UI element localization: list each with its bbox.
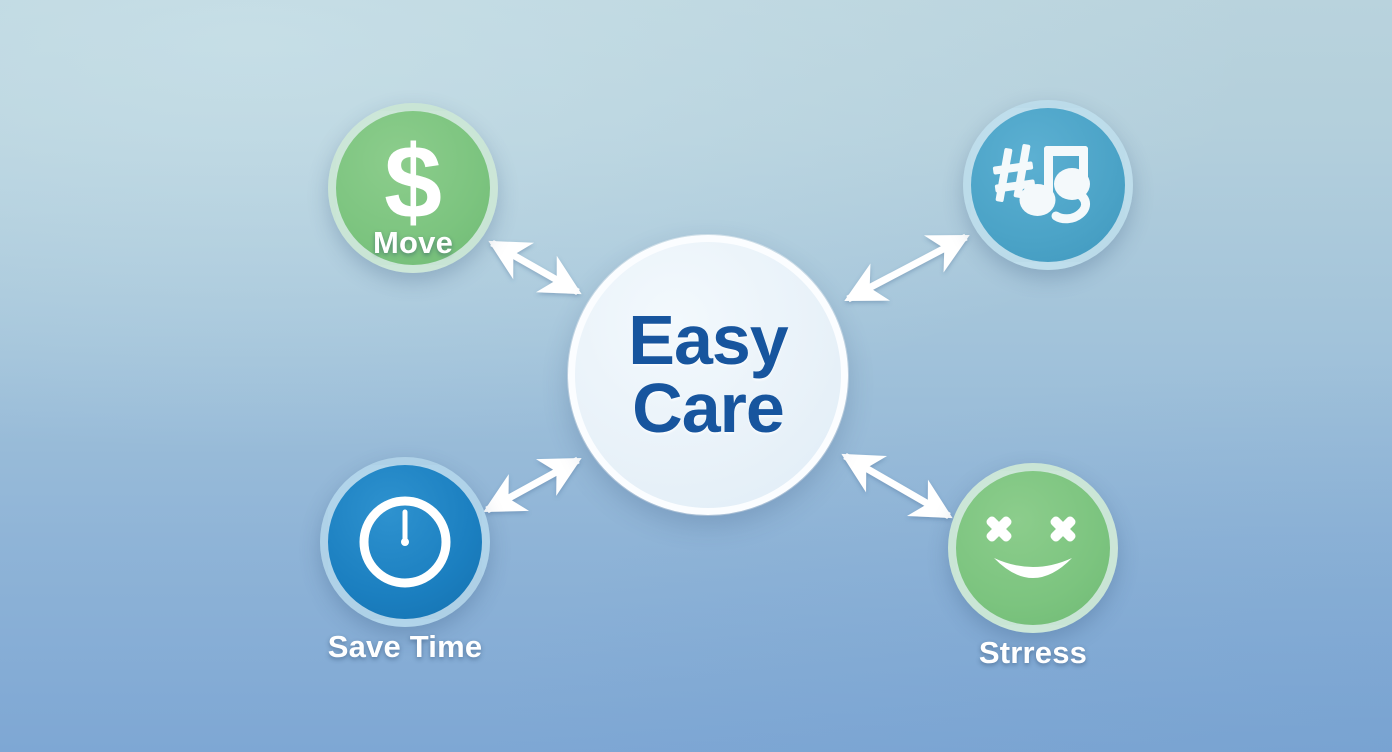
node-stress-label: Strress	[903, 635, 1163, 671]
hub-title-line1: Easy	[628, 301, 787, 379]
hub-title: Easy Care	[628, 307, 787, 443]
connector-savetime-to-hub	[487, 460, 578, 510]
easy-care-hub[interactable]: Easy Care	[568, 235, 848, 515]
smiley-face-icon	[974, 496, 1092, 600]
node-save-time-disc[interactable]	[320, 457, 490, 627]
node-save-time-label: Save Time	[275, 629, 535, 665]
connector-music-to-hub	[848, 237, 966, 299]
node-move[interactable]: $ Move	[328, 103, 498, 273]
node-move-label: Move	[283, 225, 543, 261]
node-stress-disc[interactable]	[948, 463, 1118, 633]
clock-icon	[353, 490, 457, 594]
node-save-time[interactable]: Save Time	[320, 457, 490, 627]
hub-title-line2: Care	[628, 375, 787, 443]
music-note-icon	[992, 138, 1104, 232]
diagram-canvas: Easy Care $ Move	[0, 0, 1392, 752]
node-stress[interactable]: Strress	[948, 463, 1118, 633]
node-music-disc[interactable]	[963, 100, 1133, 270]
connector-stress-to-hub	[845, 456, 949, 516]
node-music[interactable]	[963, 100, 1133, 270]
